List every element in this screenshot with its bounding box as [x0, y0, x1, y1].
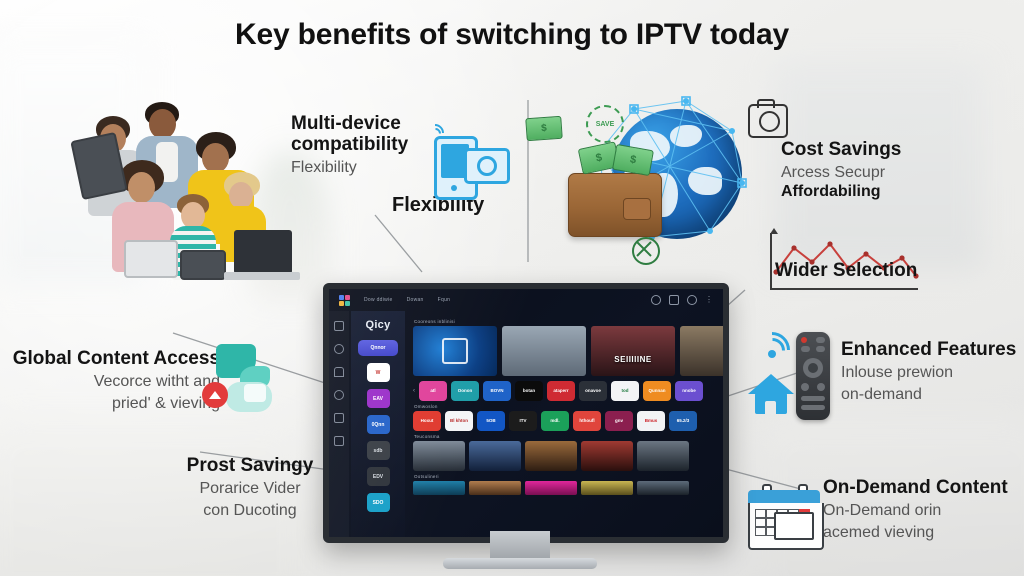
prost-savingy-heading: Prost Savingy — [150, 455, 350, 476]
tv-content-area: Cooreons inblinisi SEIIIIINE ‹ atl Oonon… — [407, 311, 723, 537]
chart-axis — [770, 233, 772, 289]
app-tile[interactable]: sdb — [367, 441, 390, 460]
app-tile-row-1: ‹ atl Oonon BOVN botan ataperr onavoe to… — [413, 381, 723, 401]
app-tile[interactable]: Oonon — [451, 381, 479, 401]
app-tile[interactable]: Bmus — [637, 411, 665, 431]
tablet-icon — [464, 148, 510, 184]
tv-nav-item-2[interactable]: Fqun — [438, 297, 451, 303]
app-tile[interactable]: SDO — [367, 493, 390, 512]
multi-device-heading-line1: Multi-device — [291, 113, 431, 134]
cost-savings-sub: Arcess Secupr — [781, 163, 991, 182]
app-tile[interactable]: EDV — [367, 467, 390, 486]
info-icon[interactable] — [334, 390, 344, 400]
tv-remote-icon — [796, 332, 830, 420]
family-photo — [74, 98, 296, 288]
label-multi-device: Multi-device compatibility Flexibility — [291, 113, 431, 177]
cast-icon[interactable] — [669, 295, 679, 305]
on-demand-sub-line1: On-Demand orin — [823, 501, 1023, 520]
label-prost-savingy: Prost Savingy Porarice Vider con Ducotin… — [150, 455, 350, 521]
tv-nav-item-1[interactable]: Dowan — [407, 297, 424, 303]
hero-card[interactable] — [502, 326, 586, 376]
tv-stand-base — [443, 558, 597, 569]
network-badge — [632, 237, 660, 265]
multi-device-heading-line2: compatibility — [291, 134, 431, 155]
tv-top-nav: Dow ddiwie Dowan Fqun ⋮ — [329, 289, 723, 311]
camera-icon — [748, 104, 788, 138]
hero-row: SEIIIIINE — [413, 326, 723, 376]
label-global-content-access: Global Content Access Vecorce witht and … — [8, 348, 220, 414]
global-access-icon — [200, 340, 288, 420]
tv-brand: Qicy — [365, 319, 390, 331]
thumbnail-card[interactable] — [413, 441, 465, 471]
global-content-sub-line1: Vecorce witht and — [8, 372, 220, 391]
savings-stamp: SAVE — [586, 105, 624, 143]
app-tile[interactable]: mdl. — [541, 411, 569, 431]
strip-card[interactable] — [413, 481, 465, 495]
home-icon — [748, 374, 794, 414]
prost-savingy-sub-line2: con Ducoting — [150, 501, 350, 520]
strip-card[interactable] — [469, 481, 521, 495]
app-tile-row-2: Hoxut Bl khton 5OB ITV mdl. hthoufl gnv … — [413, 411, 723, 431]
prost-savingy-sub-line1: Porarice Vider — [150, 479, 350, 498]
wallet-icon — [568, 173, 662, 237]
label-on-demand-content: On-Demand Content On-Demand orin acemed … — [823, 477, 1023, 543]
gear-icon[interactable] — [651, 295, 661, 305]
app-tile[interactable]: tod — [611, 381, 639, 401]
play-icon[interactable] — [334, 413, 344, 423]
wider-selection-heading: Wider Selection — [775, 260, 917, 284]
on-demand-sub-line2: acemed vieving — [823, 523, 1023, 542]
tv-nav-item-0[interactable]: Dow ddiwie — [364, 297, 393, 303]
scroll-left-icon[interactable]: ‹ — [413, 388, 415, 394]
multi-device-icon — [420, 122, 506, 200]
app-tile[interactable]: botan — [515, 381, 543, 401]
more-icon[interactable]: ⋮ — [705, 297, 713, 303]
tv-screen[interactable]: Dow ddiwie Dowan Fqun ⋮ Qicy — [329, 289, 723, 537]
row-label: Cooreons inblinisi — [414, 319, 723, 324]
hero-card[interactable]: SEIIIIINE — [591, 326, 675, 376]
strip-card[interactable] — [525, 481, 577, 495]
app-tile[interactable]: 0Qnn — [367, 415, 390, 434]
wallet-globe-icon: $ $ $ SAVE — [520, 95, 780, 275]
app-tile[interactable]: ataperr — [547, 381, 575, 401]
search-icon — [477, 156, 497, 176]
app-tile[interactable]: EAV — [367, 389, 390, 408]
app-tile[interactable]: W — [367, 363, 390, 382]
bookmark-icon[interactable] — [334, 321, 344, 331]
thumbnail-row — [413, 441, 723, 471]
row-label: Omwoslon — [414, 404, 723, 409]
tv-app-sidebar: Qicy Qnnor W EAV 0Qnn sdb EDV SDO — [351, 311, 405, 537]
strip-row — [413, 481, 723, 495]
row-label: Teuconsma — [414, 434, 723, 439]
global-content-sub-line2: pried' & vieving — [8, 394, 220, 413]
tv-sidebar-cta[interactable]: Qnnor — [358, 340, 398, 356]
hero-card[interactable] — [413, 326, 497, 376]
strip-card[interactable] — [637, 481, 689, 495]
notification-badge — [202, 382, 228, 408]
cost-savings-sub-bold: Affordabiling — [781, 182, 991, 201]
wider-selection-underline — [770, 288, 918, 290]
app-grid-logo[interactable] — [339, 295, 350, 306]
app-tile[interactable]: hthoufl — [573, 411, 601, 431]
hero-card[interactable] — [680, 326, 723, 376]
enhanced-features-heading: Enhanced Features — [841, 339, 1021, 360]
label-enhanced-features: Enhanced Features Inlouse prewion on-dem… — [841, 339, 1021, 405]
page-title: Key benefits of switching to IPTV today — [0, 18, 1024, 52]
row-label: Ootsulineri — [414, 474, 723, 479]
app-tile[interactable]: BOVN — [483, 381, 511, 401]
tv-left-rail — [329, 311, 349, 537]
clock-icon[interactable] — [334, 344, 344, 354]
label-wider-selection: Wider Selection — [775, 260, 917, 284]
app-tile[interactable]: atl — [419, 381, 447, 401]
app-tile[interactable]: ITV — [509, 411, 537, 431]
thumbnail-card[interactable] — [469, 441, 521, 471]
tv-device: Dow ddiwie Dowan Fqun ⋮ Qicy — [323, 283, 729, 543]
cost-savings-heading: Cost Savings — [781, 139, 991, 160]
strip-card[interactable] — [581, 481, 633, 495]
global-content-heading: Global Content Access — [8, 348, 220, 369]
multi-device-sub: Flexibility — [291, 158, 431, 177]
app-tile[interactable]: Hoxut — [413, 411, 441, 431]
calendar-icon — [748, 484, 820, 548]
infographic-canvas: Key benefits of switching to IPTV today — [0, 0, 1024, 576]
app-tile[interactable]: Qunnan — [643, 381, 671, 401]
label-cost-savings: Cost Savings Arcess Secupr Affordabiling — [781, 139, 991, 202]
search-icon[interactable] — [687, 295, 697, 305]
app-tile[interactable]: nnobe — [675, 381, 703, 401]
thumbnail-card[interactable] — [637, 441, 689, 471]
media-icon — [442, 338, 468, 364]
thumbnail-card[interactable] — [525, 441, 577, 471]
home-icon[interactable] — [334, 367, 344, 377]
app-tile[interactable]: 5OB — [477, 411, 505, 431]
apps-icon[interactable] — [334, 436, 344, 446]
app-tile[interactable]: 65.2/3 — [669, 411, 697, 431]
enhanced-features-sub-line2: on-demand — [841, 385, 1021, 404]
thumbnail-card[interactable] — [581, 441, 633, 471]
app-tile[interactable]: gnv — [605, 411, 633, 431]
home-wifi-icon — [748, 330, 848, 422]
app-tile[interactable]: Bl khton — [445, 411, 473, 431]
on-demand-heading: On-Demand Content — [823, 477, 1023, 498]
enhanced-features-sub-line1: Inlouse prewion — [841, 363, 1021, 382]
dollar-bill: $ — [525, 116, 563, 141]
hero-title: SEIIIIINE — [591, 355, 675, 364]
app-tile[interactable]: onavoe — [579, 381, 607, 401]
